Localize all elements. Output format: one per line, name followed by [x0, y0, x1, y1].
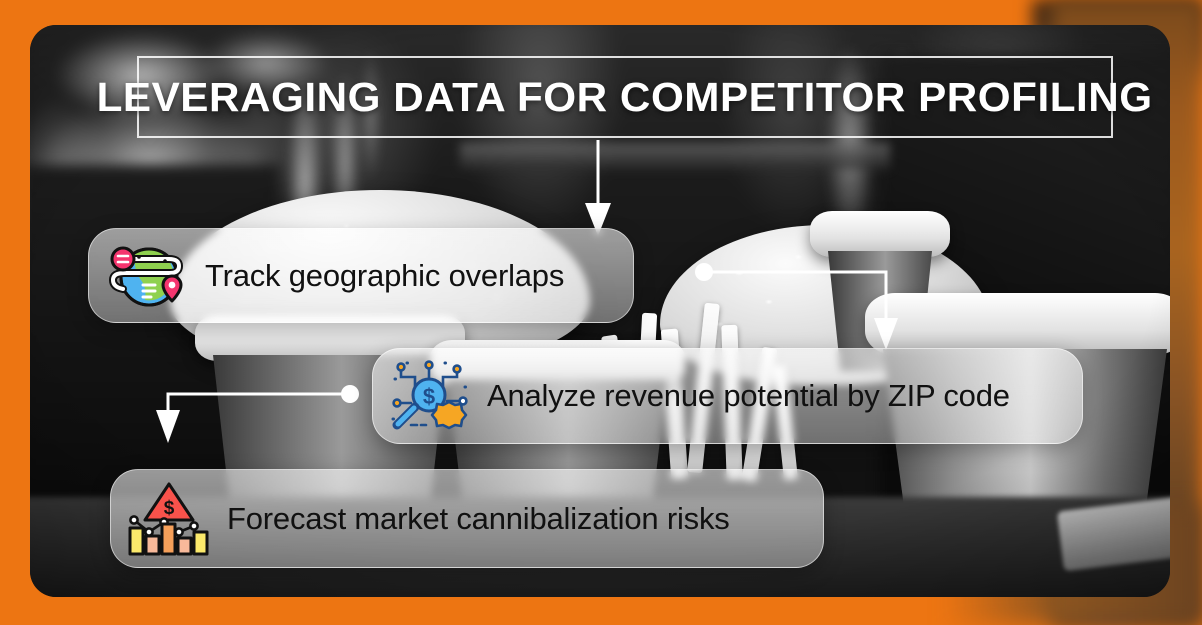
bar-chart-risk-warning-icon: $ [125, 480, 213, 558]
list-item-label: Forecast market cannibalization risks [227, 501, 730, 537]
title-box: LEVERAGING DATA FOR COMPETITOR PROFILING [137, 56, 1113, 138]
dollar-network-analytics-icon: $ [385, 357, 473, 435]
list-item[interactable]: Track geographic overlaps [88, 228, 634, 323]
globe-route-location-icon [105, 237, 193, 315]
list-item-label: Analyze revenue potential by ZIP code [487, 378, 1010, 414]
svg-text:$: $ [423, 384, 435, 409]
svg-text:$: $ [164, 498, 175, 519]
list-item-label: Track geographic overlaps [205, 258, 564, 294]
list-item[interactable]: $ Analyze revenue potential by ZIP code [372, 348, 1083, 444]
list-item[interactable]: $ Forecast market cannibalization risks [110, 469, 824, 568]
page-title: LEVERAGING DATA FOR COMPETITOR PROFILING [97, 74, 1153, 121]
